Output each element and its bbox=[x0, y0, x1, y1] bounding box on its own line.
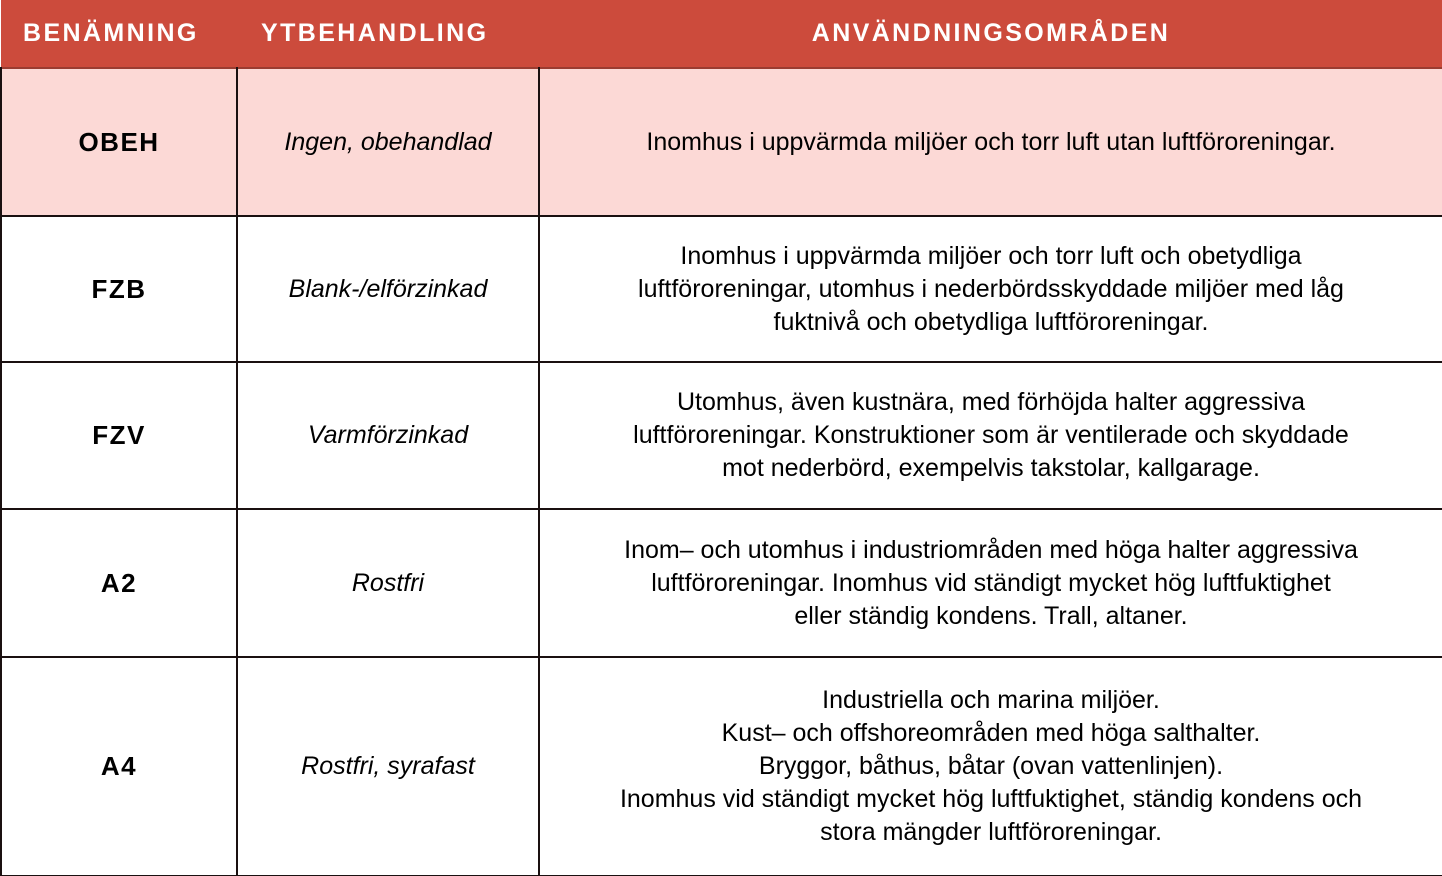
usage-line: eller ständig kondens. Trall, altaner. bbox=[552, 600, 1430, 633]
cell-usage: Utomhus, även kustnära, med förhöjda hal… bbox=[539, 362, 1442, 509]
cell-code: OBEH bbox=[1, 68, 237, 216]
usage-line: Inomhus i uppvärmda miljöer och torr luf… bbox=[552, 126, 1430, 159]
table-row: OBEH Ingen, obehandlad Inomhus i uppvärm… bbox=[1, 68, 1442, 216]
cell-usage: Industriella och marina miljöer. Kust– o… bbox=[539, 657, 1442, 876]
column-header-anvandningsomraden: ANVÄNDNINGSOMRÅDEN bbox=[539, 0, 1442, 68]
table-body: OBEH Ingen, obehandlad Inomhus i uppvärm… bbox=[1, 68, 1442, 876]
column-header-benamning: BENÄMNING bbox=[1, 0, 237, 68]
usage-line: Bryggor, båthus, båtar (ovan vattenlinje… bbox=[552, 750, 1430, 783]
table-row: A2 Rostfri Inom– och utomhus i industrio… bbox=[1, 509, 1442, 657]
cell-finish: Blank-/elförzinkad bbox=[237, 216, 539, 362]
usage-line: stora mängder luftföroreningar. bbox=[552, 816, 1430, 849]
cell-finish: Ingen, obehandlad bbox=[237, 68, 539, 216]
usage-line: Inomhus vid ständigt mycket hög luftfukt… bbox=[552, 783, 1430, 816]
usage-line: luftföroreningar. Konstruktioner som är … bbox=[552, 419, 1430, 452]
usage-line: Kust– och offshoreområden med höga salth… bbox=[552, 717, 1430, 750]
usage-line: Industriella och marina miljöer. bbox=[552, 684, 1430, 717]
cell-finish: Rostfri, syrafast bbox=[237, 657, 539, 876]
usage-line: luftföroreningar, utomhus i nederbördssk… bbox=[552, 273, 1430, 306]
cell-usage: Inomhus i uppvärmda miljöer och torr luf… bbox=[539, 68, 1442, 216]
cell-code: FZB bbox=[1, 216, 237, 362]
usage-line: Utomhus, även kustnära, med förhöjda hal… bbox=[552, 386, 1430, 419]
table-row: FZV Varmförzinkad Utomhus, även kustnära… bbox=[1, 362, 1442, 509]
cell-finish: Varmförzinkad bbox=[237, 362, 539, 509]
table-header-row: BENÄMNING YTBEHANDLING ANVÄNDNINGSOMRÅDE… bbox=[1, 0, 1442, 68]
table-row: A4 Rostfri, syrafast Industriella och ma… bbox=[1, 657, 1442, 876]
cell-usage: Inom– och utomhus i industriområden med … bbox=[539, 509, 1442, 657]
table-header: BENÄMNING YTBEHANDLING ANVÄNDNINGSOMRÅDE… bbox=[1, 0, 1442, 68]
usage-line: mot nederbörd, exempelvis takstolar, kal… bbox=[552, 452, 1430, 485]
cell-code: FZV bbox=[1, 362, 237, 509]
cell-finish: Rostfri bbox=[237, 509, 539, 657]
cell-usage: Inomhus i uppvärmda miljöer och torr luf… bbox=[539, 216, 1442, 362]
usage-line: fuktnivå och obetydliga luftföroreningar… bbox=[552, 306, 1430, 339]
column-header-ytbehandling: YTBEHANDLING bbox=[237, 0, 539, 68]
cell-code: A4 bbox=[1, 657, 237, 876]
cell-code: A2 bbox=[1, 509, 237, 657]
usage-line: Inom– och utomhus i industriområden med … bbox=[552, 534, 1430, 567]
surface-treatment-table: BENÄMNING YTBEHANDLING ANVÄNDNINGSOMRÅDE… bbox=[0, 0, 1442, 876]
usage-line: Inomhus i uppvärmda miljöer och torr luf… bbox=[552, 240, 1430, 273]
table-row: FZB Blank-/elförzinkad Inomhus i uppvärm… bbox=[1, 216, 1442, 362]
surface-treatment-table-page: BULTAB FÄSTELEMENT BENÄMNING YTBEHANDLIN… bbox=[0, 0, 1442, 876]
usage-line: luftföroreningar. Inomhus vid ständigt m… bbox=[552, 567, 1430, 600]
